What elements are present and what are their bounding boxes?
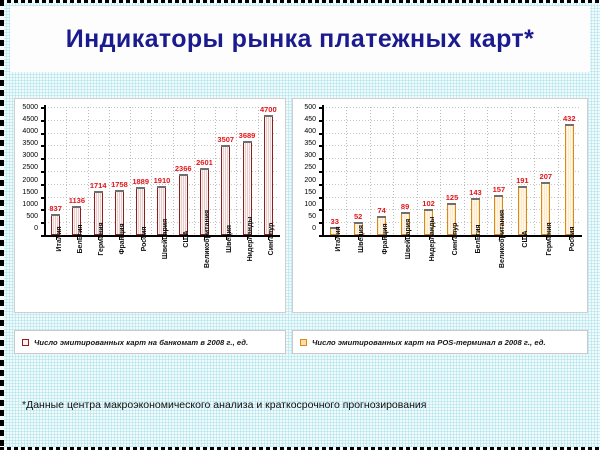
bar-value-label: 3689 <box>239 132 256 140</box>
x-axis-tick-label: Нидерланды <box>429 217 436 262</box>
x-axis-label-slot: Франция <box>109 237 130 312</box>
x-axis-tick-label: Италия <box>335 226 342 251</box>
y-axis-labels: 5000450040003500300025002000150010005000 <box>15 104 41 232</box>
y-axis-tick-label: 400 <box>304 128 319 135</box>
y-axis-tick-label: 3500 <box>22 140 41 147</box>
x-axis-labels: ИталияШвецияФранцияШвейцарияНидерландыСи… <box>323 237 581 312</box>
x-axis-label-slot: США <box>511 237 534 312</box>
x-axis-label-slot: Бельгия <box>464 237 487 312</box>
bar-slot[interactable]: 191 <box>511 107 534 235</box>
bar-value-label: 2366 <box>175 165 192 173</box>
chart-panel-pos-cards: 5004504003503002502001501005003352748910… <box>292 98 588 313</box>
bar-value-label: 125 <box>446 194 459 202</box>
bar-series: 33527489102125143157191207432 <box>323 107 581 235</box>
bar-value-label: 1136 <box>69 197 85 205</box>
x-axis-label-slot: Нидерланды <box>236 237 257 312</box>
x-axis-tick-label: Германия <box>98 222 105 255</box>
x-axis-label-slot: Италия <box>323 237 346 312</box>
x-axis-label-slot: Германия <box>534 237 557 312</box>
x-axis-labels: ИталияБельгияГерманияФранцияРоссияШвейца… <box>45 237 279 312</box>
bar-slot[interactable]: 2366 <box>173 107 194 235</box>
x-axis-label-slot: Нидерланды <box>417 237 440 312</box>
x-axis-label-slot: Великобритания <box>487 237 510 312</box>
x-axis-label-slot: Швейцария <box>151 237 172 312</box>
y-axis-tick-label: 500 <box>26 213 41 220</box>
bar-slot[interactable]: 1758 <box>109 107 130 235</box>
x-axis-tick-label: США <box>522 230 529 247</box>
bar-cap <box>424 209 433 211</box>
bar-slot[interactable]: 837 <box>45 107 66 235</box>
y-axis-labels: 500450400350300250200150100500 <box>293 104 319 232</box>
x-axis-tick-label: Сингапур <box>452 223 459 256</box>
legend-pos-cards: Число эмитированных карт на POS-терминал… <box>292 330 588 354</box>
bar[interactable]: 2366 <box>179 174 188 235</box>
bar-value-label: 52 <box>354 213 362 221</box>
footnote: *Данные центра макроэкономического анали… <box>22 399 562 411</box>
page-title: Индикаторы рынка платежных карт* <box>66 25 534 54</box>
y-axis-tick-label: 4000 <box>22 128 41 135</box>
y-axis-tick-label: 2500 <box>22 164 41 171</box>
y-axis-tick-label: 250 <box>304 164 319 171</box>
x-axis-tick-label: Франция <box>382 223 389 254</box>
bar-slot[interactable]: 4700 <box>258 107 279 235</box>
x-axis-tick-label: Россия <box>141 227 148 252</box>
x-axis-label-slot: Россия <box>558 237 581 312</box>
bar-cap <box>541 182 550 184</box>
bar-cap <box>51 214 60 216</box>
bar-value-label: 89 <box>401 203 409 211</box>
bar-cap <box>243 141 252 143</box>
bar[interactable]: 4700 <box>264 115 273 235</box>
bar[interactable]: 432 <box>565 124 574 235</box>
x-axis-tick-label: Великобритания <box>204 210 211 268</box>
bar-slot[interactable]: 143 <box>464 107 487 235</box>
bar-cap <box>136 187 145 189</box>
bar-cap <box>200 168 209 170</box>
x-axis-label-slot: Бельгия <box>66 237 87 312</box>
x-axis-tick-label: Бельгия <box>77 225 84 254</box>
x-axis-tick-label: Бельгия <box>475 225 482 254</box>
chart-panel-atm-cards: 5000450040003500300025002000150010005000… <box>14 98 286 313</box>
y-axis-tick-label: 4500 <box>22 116 41 123</box>
legend-label: Число эмитированных карт на банкомат в 2… <box>34 338 248 347</box>
bar-value-label: 33 <box>331 218 339 226</box>
x-axis-tick-label: Франция <box>119 223 126 254</box>
x-axis-tick-label: Нидерланды <box>247 217 254 262</box>
bar-cap <box>264 115 273 117</box>
y-axis-tick-label: 5000 <box>22 104 41 111</box>
bar-value-label: 157 <box>493 186 506 194</box>
bar-series: 8371136171417581889191023662601350736894… <box>45 107 279 235</box>
y-axis-tick-label: 350 <box>304 140 319 147</box>
bar-slot[interactable]: 1136 <box>66 107 87 235</box>
x-axis-label-slot: Швейцария <box>393 237 416 312</box>
x-axis-label-slot: Италия <box>45 237 66 312</box>
x-axis-tick-label: Швеция <box>358 225 365 253</box>
bar-value-label: 74 <box>377 207 385 215</box>
bar-slot[interactable]: 432 <box>558 107 581 235</box>
slide-border-top <box>0 0 600 3</box>
x-axis-label-slot: Россия <box>130 237 151 312</box>
bar-slot[interactable]: 1910 <box>151 107 172 235</box>
y-axis-tick-label: 3000 <box>22 152 41 159</box>
y-axis-tick-label: 450 <box>304 116 319 123</box>
bar-cap <box>494 195 503 197</box>
bar-value-label: 4700 <box>260 106 277 114</box>
bar-cap <box>115 190 124 192</box>
bar-slot[interactable]: 74 <box>370 107 393 235</box>
bar-slot[interactable]: 89 <box>393 107 416 235</box>
title-band: Индикаторы рынка платежных карт* <box>10 6 590 72</box>
slide: Индикаторы рынка платежных карт* 5000450… <box>0 0 600 450</box>
x-axis-tick-label: Швеция <box>226 225 233 253</box>
bar[interactable]: 3507 <box>221 145 230 235</box>
y-axis-tick-label: 0 <box>312 225 319 232</box>
y-axis-tick-label: 150 <box>304 189 319 196</box>
bar-slot[interactable]: 125 <box>440 107 463 235</box>
bar-cap <box>377 216 386 218</box>
bar-slot[interactable]: 52 <box>346 107 369 235</box>
bar-value-label: 432 <box>563 115 576 123</box>
x-axis-tick-label: Германия <box>546 222 553 255</box>
bar-cap <box>518 186 527 188</box>
x-axis-label-slot: Великобритания <box>194 237 215 312</box>
bar-value-label: 1889 <box>132 178 149 186</box>
x-axis-tick-label: США <box>183 230 190 247</box>
x-axis-tick-label: Сингапур <box>268 223 275 256</box>
bar-value-label: 102 <box>422 200 435 208</box>
bar-slot[interactable]: 1889 <box>130 107 151 235</box>
bar-slot[interactable]: 33 <box>323 107 346 235</box>
bar-cap <box>401 212 410 214</box>
y-axis-tick-label: 300 <box>304 152 319 159</box>
bar-slot[interactable]: 1714 <box>88 107 109 235</box>
bar-value-label: 207 <box>540 173 553 181</box>
bar-cap <box>565 124 574 126</box>
x-axis-label-slot: Швеция <box>346 237 369 312</box>
y-axis-tick-label: 1500 <box>22 189 41 196</box>
legend-swatch-icon <box>300 339 307 346</box>
y-axis-tick-label: 500 <box>304 104 319 111</box>
bar-value-label: 143 <box>469 189 482 197</box>
y-axis-tick-label: 200 <box>304 177 319 184</box>
plot-area-atm-cards: 5000450040003500300025002000150010005000… <box>15 99 285 312</box>
bar-cap <box>179 174 188 176</box>
bar-cap <box>354 222 363 224</box>
x-axis-label-slot: Германия <box>88 237 109 312</box>
x-axis-label-slot: Сингапур <box>440 237 463 312</box>
bar-cap <box>221 145 230 147</box>
y-axis-tick-label: 1000 <box>22 201 41 208</box>
y-axis-tick-label: 0 <box>34 225 41 232</box>
bar-value-label: 2601 <box>196 159 213 167</box>
bar-value-label: 837 <box>49 205 62 213</box>
legend-label: Число эмитированных карт на POS-терминал… <box>312 338 546 347</box>
x-axis-tick-label: Великобритания <box>499 210 506 268</box>
x-axis-tick-label: Швейцария <box>405 219 412 259</box>
bar[interactable]: 191 <box>518 186 527 235</box>
x-axis-label-slot: Франция <box>370 237 393 312</box>
x-axis-tick-label: Италия <box>56 226 63 251</box>
bar-cap <box>94 191 103 193</box>
bar-cap <box>447 203 456 205</box>
slide-border-left <box>0 0 4 450</box>
x-axis-label-slot: Сингапур <box>258 237 279 312</box>
x-axis-tick-label: Россия <box>569 227 576 252</box>
x-axis-label-slot: США <box>173 237 194 312</box>
legend-swatch-icon <box>22 339 29 346</box>
bar-slot[interactable]: 207 <box>534 107 557 235</box>
bar-cap <box>72 206 81 208</box>
bar-value-label: 191 <box>516 177 529 185</box>
y-axis-tick-label: 50 <box>308 213 319 220</box>
legend-atm-cards: Число эмитированных карт на банкомат в 2… <box>14 330 286 354</box>
bar-value-label: 1714 <box>90 182 107 190</box>
bar-value-label: 1758 <box>111 181 128 189</box>
y-axis-tick-label: 2000 <box>22 177 41 184</box>
bar-cap <box>471 198 480 200</box>
plot-area-pos-cards: 5004504003503002502001501005003352748910… <box>293 99 587 312</box>
y-axis-tick-label: 100 <box>304 201 319 208</box>
bar-value-label: 1910 <box>154 177 171 185</box>
bar-slot[interactable]: 3507 <box>215 107 236 235</box>
x-axis-tick-label: Швейцария <box>162 219 169 259</box>
bar-value-label: 3507 <box>217 136 234 144</box>
x-axis-label-slot: Швеция <box>215 237 236 312</box>
bar-cap <box>157 186 166 188</box>
